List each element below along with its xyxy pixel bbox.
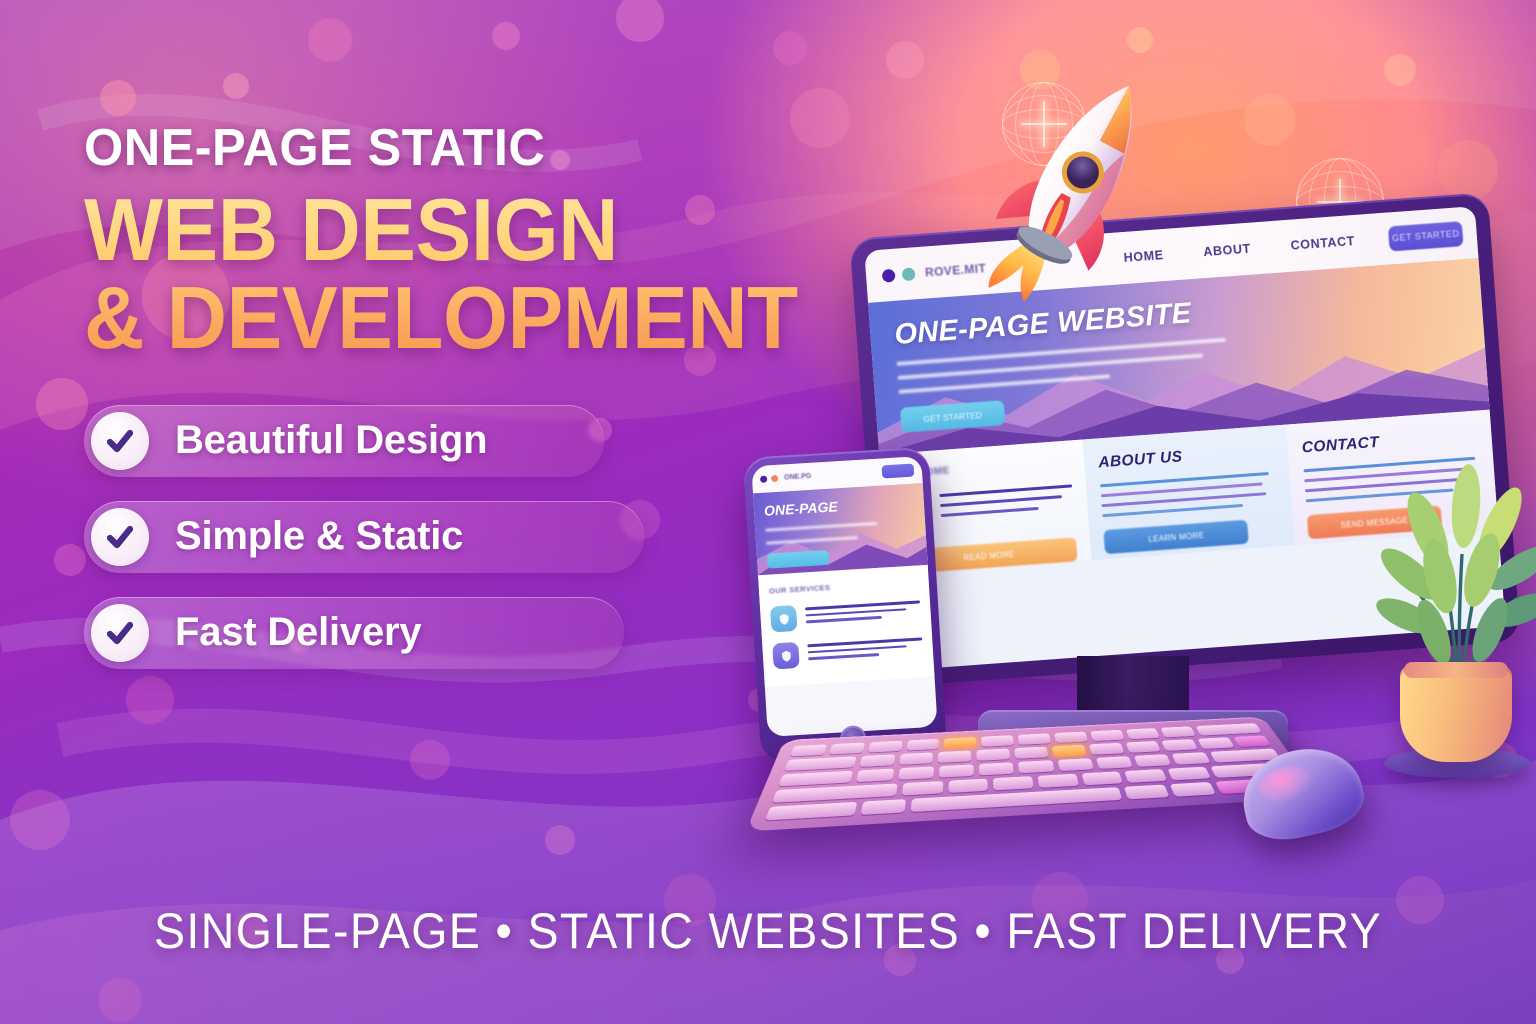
phone-screen: ONE.PG ONE-PAGE OUR SERVICES xyxy=(751,456,937,737)
phone-list-item xyxy=(770,597,921,632)
placeholder-line xyxy=(1102,504,1243,517)
feature-item-fast-delivery: Fast Delivery xyxy=(84,597,624,669)
plant-pot xyxy=(1400,666,1512,762)
nav-link-contact[interactable]: CONTACT xyxy=(1290,234,1355,253)
mockup-nav-links: HOME ABOUT CONTACT xyxy=(1123,234,1355,265)
check-icon xyxy=(91,508,149,566)
phone-section-title: OUR SERVICES xyxy=(769,577,919,595)
nav-link-home[interactable]: HOME xyxy=(1123,248,1164,265)
headline-line-2: & DEVELOPMENT xyxy=(84,276,806,360)
phone-nav-button[interactable] xyxy=(882,464,915,479)
device-illustration: ROVE.MIT HOME ABOUT CONTACT GET STARTED xyxy=(730,60,1536,920)
kicker-text: ONE-PAGE STATIC xyxy=(84,118,821,178)
mockup-card-about: ABOUT US LEARN MORE xyxy=(1083,425,1295,561)
feature-item-beautiful-design: Beautiful Design xyxy=(84,405,604,477)
card-button[interactable]: LEARN MORE xyxy=(1103,520,1249,555)
banner-canvas: ONE-PAGE STATIC WEB DESIGN & DEVELOPMENT… xyxy=(0,0,1536,1024)
logo-dots-icon xyxy=(882,267,916,282)
phone-list-item xyxy=(772,634,923,669)
potted-plant xyxy=(1370,450,1536,780)
smartphone: ONE.PG ONE-PAGE OUR SERVICES xyxy=(743,447,947,764)
phone-logo-text: ONE.PG xyxy=(784,473,812,482)
feature-label: Beautiful Design xyxy=(175,418,487,463)
shield-icon xyxy=(772,642,800,670)
shield-icon xyxy=(770,605,798,633)
feature-label: Fast Delivery xyxy=(175,610,421,655)
placeholder-line xyxy=(941,507,1039,517)
phone-services-section: OUR SERVICES xyxy=(758,565,935,687)
headline-line-1: WEB DESIGN xyxy=(84,180,618,279)
placeholder-line xyxy=(940,495,1062,507)
card-title: ABOUT US xyxy=(1098,442,1275,473)
check-icon xyxy=(91,604,149,662)
feature-item-simple-static: Simple & Static xyxy=(84,501,644,573)
feature-label: Simple & Static xyxy=(175,514,463,559)
bottom-tagline: SINGLE-PAGE • STATIC WEBSITES • FAST DEL… xyxy=(54,902,1482,960)
phone-hero-title: ONE-PAGE xyxy=(764,493,925,519)
page-title: WEB DESIGN & DEVELOPMENT xyxy=(84,188,806,361)
check-icon xyxy=(91,412,149,470)
mockup-nav-cta-button[interactable]: GET STARTED xyxy=(1388,221,1464,251)
phone-hero: ONE-PAGE xyxy=(753,483,928,575)
nav-link-about[interactable]: ABOUT xyxy=(1203,242,1251,259)
